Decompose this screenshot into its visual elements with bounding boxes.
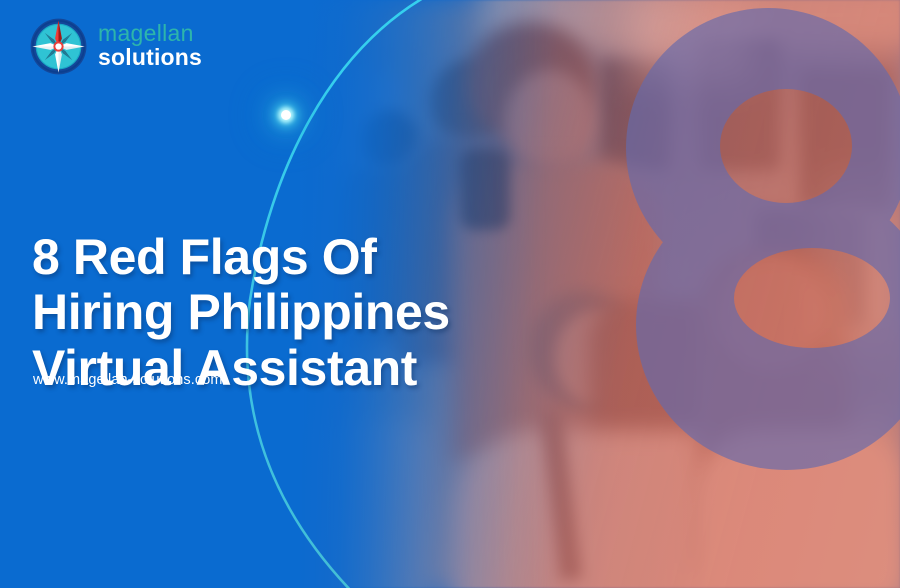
logo-brand-top: magellan bbox=[98, 22, 202, 45]
banner-graphic: magellan solutions 8 Red Flags Of Hiring… bbox=[0, 0, 900, 588]
logo-wordmark: magellan solutions bbox=[98, 22, 202, 71]
logo[interactable]: magellan solutions bbox=[30, 18, 202, 75]
logo-brand-bottom: solutions bbox=[98, 46, 202, 69]
compass-rose-icon bbox=[30, 18, 87, 75]
headline-line-1: 8 Red Flags Of bbox=[32, 230, 572, 286]
website-url[interactable]: www.magellan-solutions.com bbox=[33, 372, 223, 388]
headline-line-2: Hiring Philippines bbox=[32, 285, 572, 341]
